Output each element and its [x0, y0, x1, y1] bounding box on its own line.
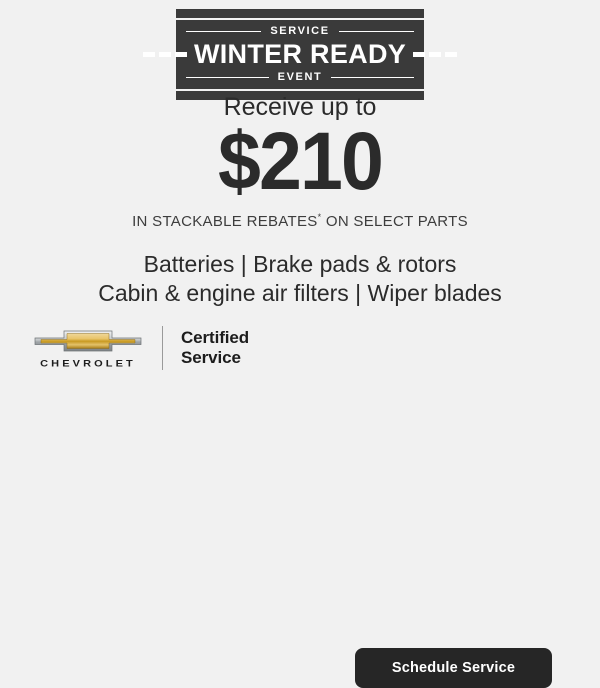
covered-products: Batteries | Brake pads & rotors Cabin & …: [0, 250, 600, 309]
badge-kicker-top-row: SERVICE: [176, 24, 424, 39]
brand-divider: [162, 326, 163, 370]
badge-body: SERVICE WINTER READY EVENT: [176, 20, 424, 89]
chevrolet-bowtie-icon: [33, 326, 143, 356]
brand-lockup: CHEVROLET Certified Service: [33, 320, 249, 376]
badge-rule-right: [339, 31, 414, 32]
badge-dashes-left: [136, 52, 194, 57]
product-line-1: Batteries | Brake pads & rotors: [0, 250, 600, 279]
offer-terms-prefix: IN STACKABLE REBATES: [132, 213, 318, 230]
certified-line-2: Service: [181, 348, 249, 368]
offer-amount: $210: [18, 122, 582, 202]
badge-kicker-event: EVENT: [269, 72, 332, 83]
service-promo-ad: SERVICE WINTER READY EVENT Receive up to: [0, 0, 600, 400]
offer-terms: IN STACKABLE REBATES* ON SELECT PARTS: [0, 214, 600, 229]
badge-kicker-bottom-row: EVENT: [176, 70, 424, 85]
certified-service-label: Certified Service: [181, 328, 249, 368]
badge-dashes-right: [406, 52, 464, 57]
badge-rule-left-2: [186, 77, 269, 78]
badge-kicker-service: SERVICE: [261, 26, 338, 37]
certified-line-1: Certified: [181, 328, 249, 348]
badge-title-row: WINTER READY: [176, 39, 424, 70]
badge-title: WINTER READY: [194, 40, 406, 68]
chevrolet-wordmark: CHEVROLET: [33, 360, 143, 369]
product-line-2: Cabin & engine air filters | Wiper blade…: [0, 279, 600, 308]
chevrolet-brand: CHEVROLET: [33, 326, 143, 370]
winter-ready-badge: SERVICE WINTER READY EVENT: [176, 9, 424, 100]
offer-terms-suffix: ON SELECT PARTS: [321, 213, 468, 230]
badge-rule-right-2: [331, 77, 414, 78]
ad-footer: CHEVROLET Certified Service Schedule Ser…: [0, 320, 600, 380]
schedule-service-button[interactable]: Schedule Service: [355, 648, 552, 688]
badge-rule-left: [186, 31, 261, 32]
badge-top-bar: [176, 9, 424, 18]
